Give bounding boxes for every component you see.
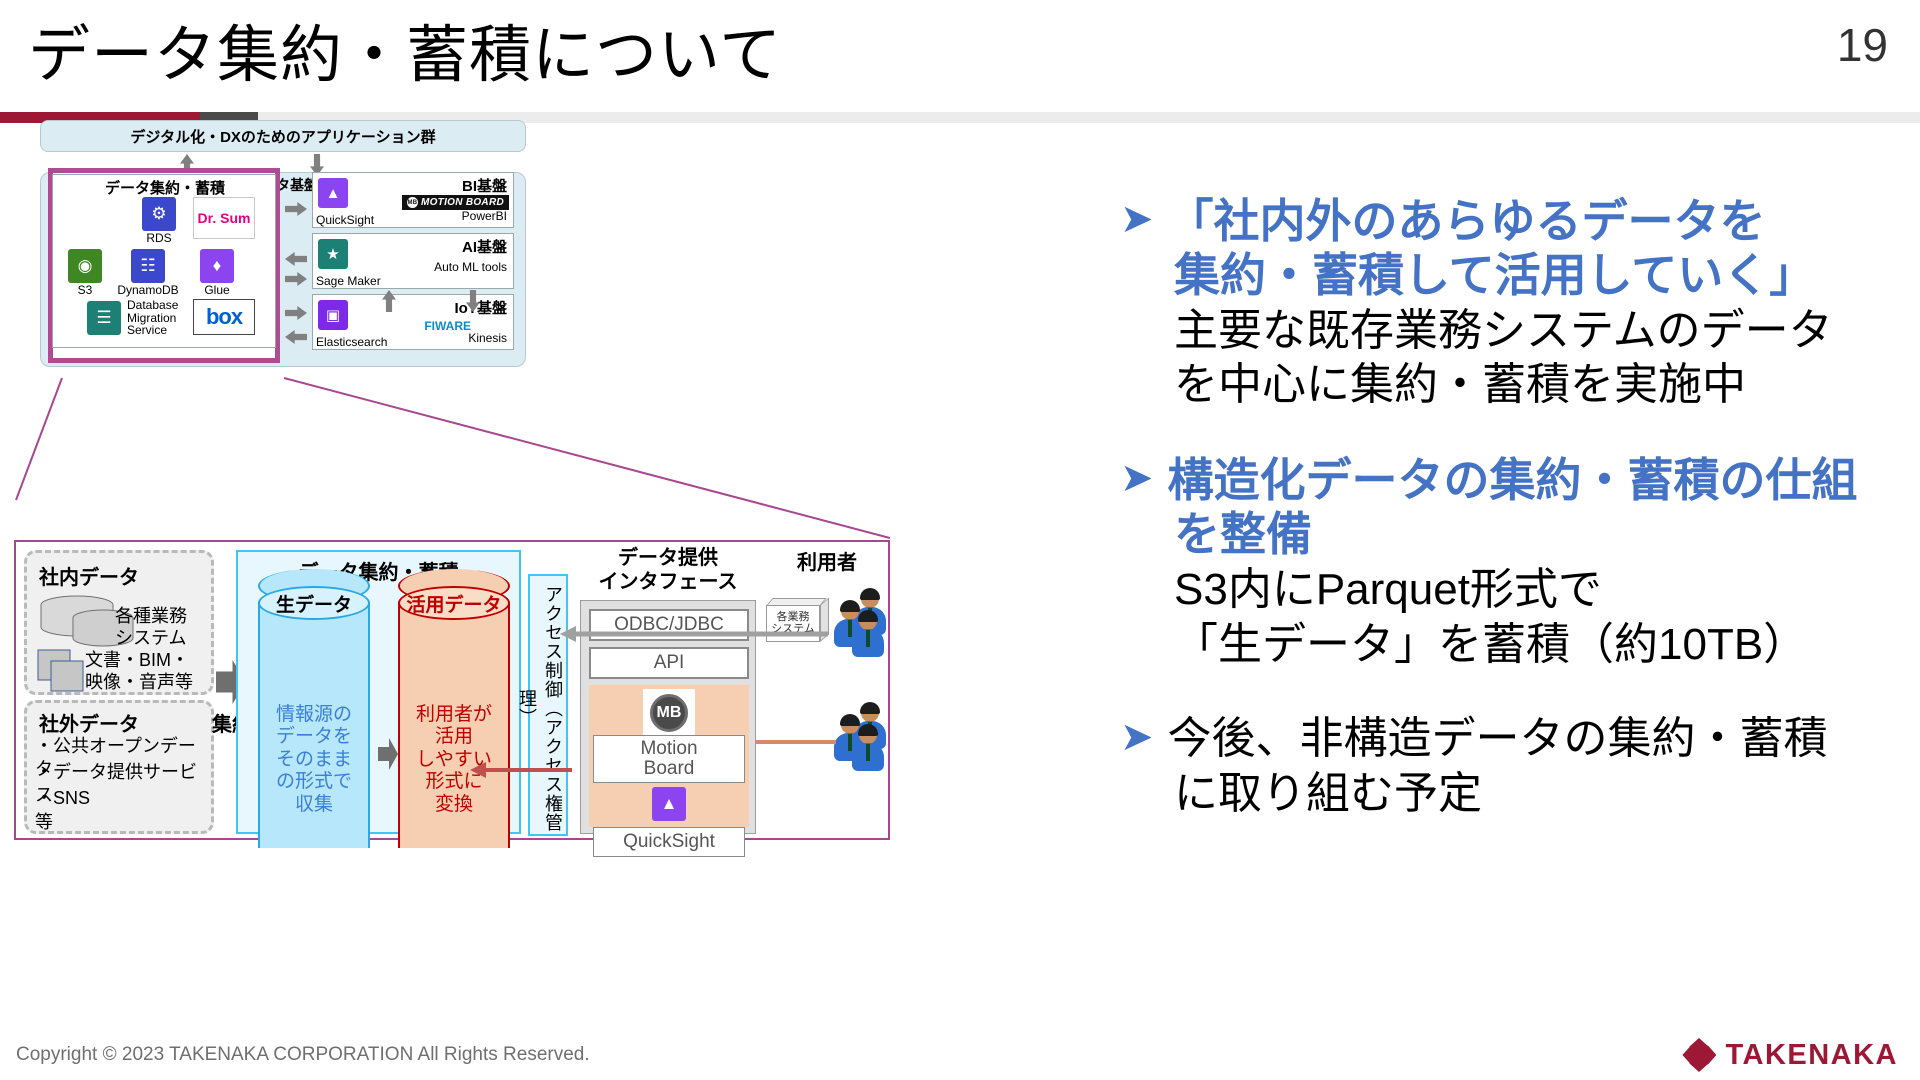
data-storage-label: データ集約・蓄積: [53, 177, 277, 198]
interface-title-line2: インタフェース: [580, 570, 756, 594]
bi-primary-label: QuickSight: [316, 213, 374, 227]
chevron-right-icon: ➤: [1120, 199, 1154, 239]
elasticsearch-icon: ▣: [318, 300, 348, 330]
cube-label-line2: システム: [771, 624, 815, 636]
ai-platform-title: AI基盤: [462, 236, 507, 257]
interface-odbc-jdbc: ODBC/JDBC: [589, 609, 749, 641]
fiware-logo: FIWARE: [424, 319, 471, 333]
service-dms: ☰ Database Migration Service: [87, 299, 183, 337]
service-label: Glue: [195, 284, 239, 297]
data-storage-box: データ集約・蓄積 ⚙ RDS Dr. Sum ◉ S3 ☷ DynamoDB ♦…: [52, 174, 276, 348]
external-item-3: 等: [35, 811, 53, 834]
drsum-logo: Dr. Sum: [193, 197, 255, 239]
sagemaker-label: Sage Maker: [316, 274, 381, 288]
use-line-0: 利用者が: [398, 704, 510, 726]
service-dynamodb: ☷ DynamoDB: [115, 249, 181, 297]
external-data-title: 社外データ: [39, 708, 139, 737]
service-label: S3: [63, 284, 107, 297]
interface-box: ODBC/JDBC API MB Motion Board ▲ QuickSig…: [580, 600, 756, 834]
glue-icon: ♦: [200, 249, 234, 283]
internal-line-4: 映像・音声等: [85, 671, 193, 694]
chevron-right-icon: ➤: [1120, 458, 1154, 498]
raw-line-0: 情報源の: [258, 704, 370, 726]
box-logo: box: [193, 299, 255, 335]
raw-data-cap: 生データ: [258, 586, 370, 620]
raw-line-3: の形式で: [258, 771, 370, 793]
interface-title-line1: データ提供: [580, 546, 756, 570]
drsum-label: Dr. Sum: [198, 210, 251, 226]
ai-platform-box: ★ AI基盤 Sage Maker Auto ML tools: [312, 233, 514, 289]
user-group-bottom: [834, 704, 912, 770]
internal-line-2: システム: [115, 627, 186, 650]
bullet-row-1: ➤ 「社内外のあらゆるデータを: [1120, 195, 1910, 249]
interface-api: API: [589, 647, 749, 679]
bi-tools-panel: MB Motion Board ▲ QuickSight: [589, 685, 749, 827]
bi-platform-box: ▲ BI基盤 MB MOTION BOARD QuickSight PowerB…: [312, 172, 514, 228]
iot-platform-title: IoT基盤: [455, 297, 508, 318]
use-line-2: しやすい: [398, 749, 510, 771]
bullet-1-plain-line2: を中心に集約・蓄積を実施中: [1120, 359, 1910, 412]
user-group-top: [834, 590, 912, 656]
bullet-3-line1: 今後、非構造データの集約・蓄積: [1168, 713, 1828, 766]
interface-title: データ提供 インタフェース: [580, 546, 756, 594]
motionboard-mark: MB: [650, 694, 688, 732]
chevron-right-icon: ➤: [1120, 717, 1154, 757]
quicksight-icon: ▲: [318, 178, 348, 208]
use-data-cap: 活用データ: [398, 586, 510, 620]
business-system-cube: 各業務 システム: [766, 598, 830, 642]
bullet-2-plain-line2: 「生データ」を蓄積（約10TB）: [1120, 619, 1910, 672]
service-label: Database Migration Service: [127, 299, 183, 337]
bullet-block-1: ➤ 「社内外のあらゆるデータを 集約・蓄積して活用していく」 主要な既存業務シス…: [1120, 195, 1910, 412]
service-label: DynamoDB: [115, 284, 181, 297]
service-glue: ♦ Glue: [195, 249, 239, 297]
iot-platform-box: ▣ IoT基盤 FIWARE Elasticsearch Kinesis: [312, 294, 514, 350]
raw-line-1: データを: [258, 726, 370, 748]
bi-platform-title: BI基盤: [462, 175, 507, 196]
motionboard-mark: MB: [407, 197, 418, 208]
bullet-1-plain-line1: 主要な既存業務システムのデータ: [1120, 305, 1910, 358]
access-control-column: アクセス制御（アクセス権管理）: [528, 574, 568, 836]
motionboard-badge: MB MOTION BOARD: [402, 195, 509, 210]
powerbi-label: PowerBI: [462, 209, 507, 223]
person-icon: [852, 726, 884, 770]
data-flow-diagram: 社内データ 各種業務 システム 文書・BIM・ 映像・音声等 社外データ ・公共…: [14, 540, 890, 840]
raw-line-2: そのまま: [258, 749, 370, 771]
person-icon: [852, 612, 884, 656]
bullet-3-line2: に取り組む予定: [1120, 768, 1910, 821]
use-line-4: 変換: [398, 794, 510, 816]
service-s3: ◉ S3: [63, 249, 107, 297]
raw-line-4: 収集: [258, 794, 370, 816]
bullet-2-bold-line2: を整備: [1120, 508, 1910, 562]
internal-line-3: 文書・BIM・: [85, 649, 189, 672]
internal-data-title: 社内データ: [39, 561, 139, 590]
cube-side-face: [820, 597, 829, 642]
dms-icon: ☰: [87, 301, 121, 335]
motionboard-logo: MB: [643, 689, 695, 737]
kinesis-label: Kinesis: [468, 331, 507, 345]
cube-label-line1: 各業務: [777, 612, 810, 624]
bullet-list: ➤ 「社内外のあらゆるデータを 集約・蓄積して活用していく」 主要な既存業務シス…: [1120, 195, 1910, 863]
service-rds: ⚙ RDS: [137, 197, 181, 245]
use-line-1: 活用: [398, 726, 510, 748]
motionboard-label: MOTION BOARD: [421, 197, 504, 208]
elasticsearch-label: Elasticsearch: [316, 335, 387, 349]
bullet-2-bold-line1: 構造化データの集約・蓄積の仕組: [1168, 454, 1858, 508]
motionboard-name: Motion Board: [593, 735, 745, 783]
internal-data-card: 社内データ 各種業務 システム 文書・BIM・ 映像・音声等: [24, 550, 214, 695]
aggregation-area: データ集約・蓄積 生データ 情報源の データを そのまま の形式で 収集 活用デ…: [236, 550, 521, 834]
bullet-row-2: ➤ 構造化データの集約・蓄積の仕組: [1120, 454, 1910, 508]
bullet-1-bold-line2: 集約・蓄積して活用していく」: [1120, 249, 1910, 303]
application-layer-band: デジタル化・DXのためのアプリケーション群: [40, 120, 526, 152]
users-title: 利用者: [772, 546, 882, 575]
quicksight-icon: ▲: [652, 787, 686, 821]
raw-data-text: 情報源の データを そのまま の形式で 収集: [258, 704, 370, 816]
platform-architecture-diagram: デジタル化・DXのためのアプリケーション群 データ基盤 データ集約・蓄積 ⚙ R…: [34, 120, 534, 380]
use-data-text: 利用者が 活用 しやすい 形式に 変換: [398, 704, 510, 816]
use-line-3: 形式に: [398, 771, 510, 793]
takenaka-mark-icon: [1682, 1038, 1716, 1072]
internal-line-1: 各種業務: [115, 605, 187, 628]
platform-capability-stack: ▲ BI基盤 MB MOTION BOARD QuickSight PowerB…: [312, 172, 514, 355]
bullet-2-plain-line1: S3内にParquet形式で: [1120, 564, 1910, 617]
bullet-row-3: ➤ 今後、非構造データの集約・蓄積: [1120, 713, 1910, 766]
bullet-1-bold-line1: 「社内外のあらゆるデータを: [1168, 195, 1766, 249]
slide-number: 19: [1837, 18, 1888, 72]
bullet-block-3: ➤ 今後、非構造データの集約・蓄積 に取り組む予定: [1120, 713, 1910, 821]
page-title: データ集約・蓄積について: [28, 4, 782, 94]
quicksight-name: QuickSight: [593, 827, 745, 857]
rds-icon: ⚙: [142, 197, 176, 231]
automl-label: Auto ML tools: [434, 260, 507, 274]
external-data-card: 社外データ ・公共オープンデータ ・データ提供サービス ・SNS 等: [24, 700, 214, 834]
sagemaker-icon: ★: [318, 239, 348, 269]
dynamodb-icon: ☷: [131, 249, 165, 283]
takenaka-wordmark: TAKENAKA: [1725, 1039, 1898, 1072]
service-label: RDS: [137, 232, 181, 245]
s3-icon: ◉: [68, 249, 102, 283]
external-item-2: ・SNS: [35, 787, 90, 810]
arrow-raw-to-use: [378, 738, 398, 770]
company-logo: TAKENAKA: [1682, 1038, 1898, 1072]
footer-copyright: Copyright © 2023 TAKENAKA CORPORATION Al…: [16, 1044, 590, 1066]
motionboard-name-line2: Board: [644, 759, 695, 779]
cube-front-face: 各業務 システム: [766, 605, 820, 642]
bullet-block-2: ➤ 構造化データの集約・蓄積の仕組 を整備 S3内にParquet形式で 「生デ…: [1120, 454, 1910, 671]
motionboard-name-line1: Motion: [640, 739, 697, 759]
